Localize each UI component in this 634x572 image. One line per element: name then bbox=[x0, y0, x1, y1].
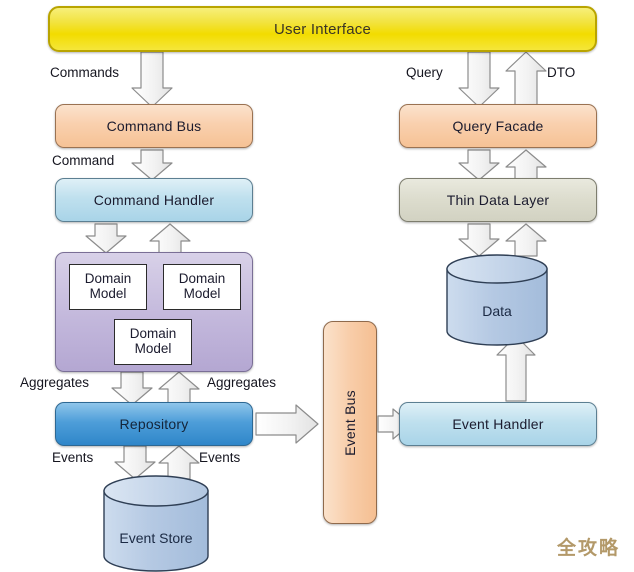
arrow-ui-to-command-bus bbox=[132, 52, 172, 107]
node-domain-model-3[interactable]: Domain Model bbox=[114, 319, 192, 365]
edge-label-query: Query bbox=[406, 65, 443, 80]
node-event-store-label: Event Store bbox=[119, 530, 192, 546]
node-event-bus-label: Event Bus bbox=[342, 390, 358, 456]
node-domain-model-2-label: Domain Model bbox=[164, 272, 240, 301]
node-query-facade-label: Query Facade bbox=[452, 118, 543, 134]
node-user-interface-label: User Interface bbox=[274, 21, 371, 38]
node-thin-data-layer[interactable]: Thin Data Layer bbox=[399, 178, 597, 222]
arrow-query-facade-to-thin-data-layer bbox=[459, 150, 499, 180]
arrow-query-facade-to-ui bbox=[506, 52, 546, 107]
node-event-store[interactable]: Event Store bbox=[101, 475, 211, 572]
node-thin-data-layer-label: Thin Data Layer bbox=[447, 192, 550, 208]
node-domain-model-2[interactable]: Domain Model bbox=[163, 264, 241, 310]
arrow-handler-to-domain bbox=[86, 224, 126, 253]
node-domain-model-1[interactable]: Domain Model bbox=[69, 264, 147, 310]
node-command-bus[interactable]: Command Bus bbox=[55, 104, 253, 148]
node-event-handler-label: Event Handler bbox=[452, 416, 543, 432]
arrow-domain-to-handler bbox=[150, 224, 190, 253]
edge-label-events-right: Events bbox=[199, 450, 240, 465]
edge-label-commands: Commands bbox=[50, 65, 119, 80]
arrow-thin-data-layer-to-data bbox=[459, 224, 499, 256]
edge-label-command: Command bbox=[52, 153, 114, 168]
watermark: 全攻略 bbox=[557, 533, 620, 560]
edge-label-dto: DTO bbox=[547, 65, 575, 80]
node-domain-model-1-label: Domain Model bbox=[70, 272, 146, 301]
node-event-bus[interactable]: Event Bus bbox=[323, 321, 377, 524]
arrow-repository-to-domain bbox=[159, 372, 199, 405]
edge-label-events-left: Events bbox=[52, 450, 93, 465]
node-data[interactable]: Data bbox=[444, 254, 550, 346]
node-command-handler[interactable]: Command Handler bbox=[55, 178, 253, 222]
arrow-thin-data-layer-to-query-facade bbox=[506, 150, 546, 180]
node-query-facade[interactable]: Query Facade bbox=[399, 104, 597, 148]
edge-label-aggregates-left: Aggregates bbox=[20, 375, 89, 390]
arrow-repository-to-event-bus bbox=[256, 405, 318, 443]
node-event-handler[interactable]: Event Handler bbox=[399, 402, 597, 446]
node-repository[interactable]: Repository bbox=[55, 402, 253, 446]
node-user-interface[interactable]: User Interface bbox=[48, 6, 597, 52]
node-repository-label: Repository bbox=[120, 416, 189, 432]
node-command-handler-label: Command Handler bbox=[94, 192, 215, 208]
node-data-label: Data bbox=[482, 303, 512, 319]
edge-label-aggregates-right: Aggregates bbox=[207, 375, 276, 390]
diagram-canvas: User Interface Command Bus Command Handl… bbox=[0, 0, 634, 572]
arrow-ui-to-query-facade bbox=[459, 52, 499, 107]
node-command-bus-label: Command Bus bbox=[107, 118, 202, 134]
node-domain-model-3-label: Domain Model bbox=[115, 327, 191, 356]
arrow-data-to-thin-data-layer bbox=[506, 224, 546, 256]
arrow-command-bus-to-handler bbox=[132, 150, 172, 180]
arrow-domain-to-repository bbox=[112, 372, 152, 405]
